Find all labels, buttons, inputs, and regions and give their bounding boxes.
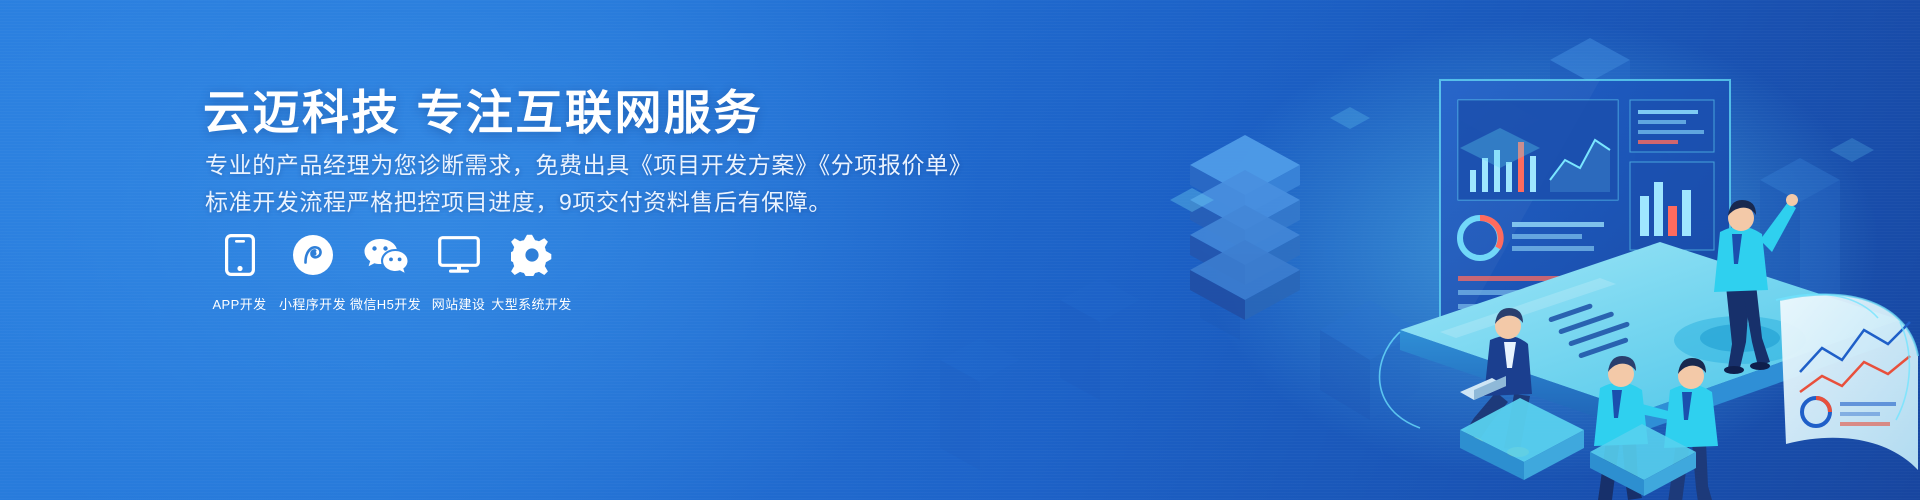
page-title: 云迈科技 专注互联网服务 — [203, 74, 763, 143]
subtitle-line-1: 专业的产品经理为您诊断需求，免费出具《项目开发方案》《分项报价单》 — [205, 146, 972, 180]
hero-banner: 云迈科技 专注互联网服务 专业的产品经理为您诊断需求，免费出具《项目开发方案》《… — [0, 0, 1920, 500]
service-label-app: APP开发 — [212, 294, 266, 313]
gear-icon — [509, 232, 555, 278]
mobile-phone-icon — [217, 232, 263, 278]
subtitle-line-2: 标准开发流程严格把控项目进度，9项交付资料售后有保障。 — [205, 183, 832, 217]
service-item-system[interactable]: 大型系统开发 — [495, 232, 568, 313]
service-icon-row: APP开发 小程序开发 — [203, 232, 568, 313]
monitor-icon — [436, 232, 482, 278]
service-label-website: 网站建设 — [432, 294, 486, 313]
service-item-app[interactable]: APP开发 — [203, 232, 276, 313]
service-item-website[interactable]: 网站建设 — [422, 232, 495, 313]
illustration-isometric-data-dashboard — [900, 0, 1920, 500]
service-label-mini-program: 小程序开发 — [279, 294, 346, 313]
wechat-icon — [363, 232, 409, 278]
service-label-system: 大型系统开发 — [491, 294, 571, 313]
mini-program-icon — [290, 232, 336, 278]
service-item-wechat-h5[interactable]: 微信H5开发 — [349, 232, 422, 313]
service-item-mini-program[interactable]: 小程序开发 — [276, 232, 349, 313]
service-label-wechat-h5: 微信H5开发 — [350, 294, 421, 313]
